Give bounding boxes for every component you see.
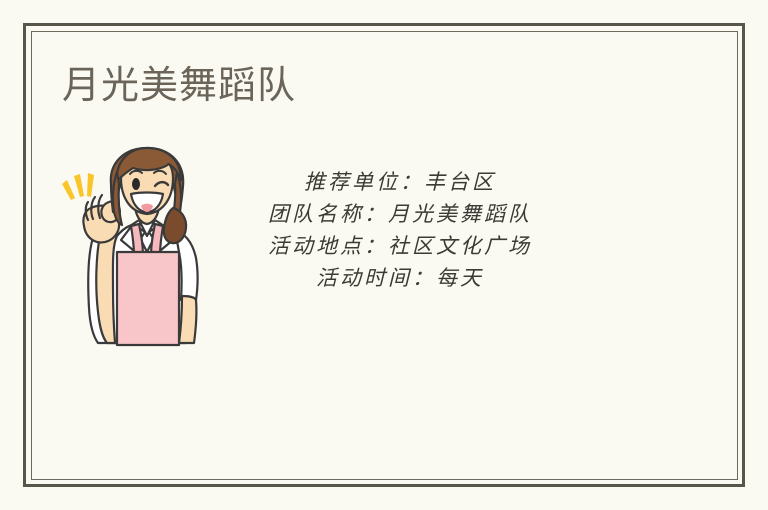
info-label-team-name: 团队名称： (268, 202, 388, 226)
poster-canvas: 月光美舞蹈队 (0, 0, 768, 510)
info-value-team-name: 月光美舞蹈队 (388, 202, 532, 226)
info-line-activity-location: 活动地点：社区文化广场 (200, 230, 600, 262)
info-label-activity-time: 活动时间： (316, 266, 436, 290)
info-text-block: 推荐单位：丰台区 团队名称：月光美舞蹈队 活动地点：社区文化广场 活动时间：每天 (200, 166, 600, 294)
info-value-recommending-unit: 丰台区 (424, 170, 496, 194)
info-label-recommending-unit: 推荐单位： (304, 170, 424, 194)
info-value-activity-location: 社区文化广场 (388, 234, 532, 258)
sparkle-icon (62, 173, 94, 200)
woman-ok-gesture-illustration (55, 140, 220, 355)
info-line-recommending-unit: 推荐单位：丰台区 (200, 166, 600, 198)
page-title: 月光美舞蹈队 (62, 62, 296, 110)
info-line-team-name: 团队名称：月光美舞蹈队 (200, 198, 600, 230)
info-line-activity-time: 活动时间：每天 (200, 262, 600, 294)
info-label-activity-location: 活动地点： (268, 234, 388, 258)
info-value-activity-time: 每天 (436, 266, 484, 290)
